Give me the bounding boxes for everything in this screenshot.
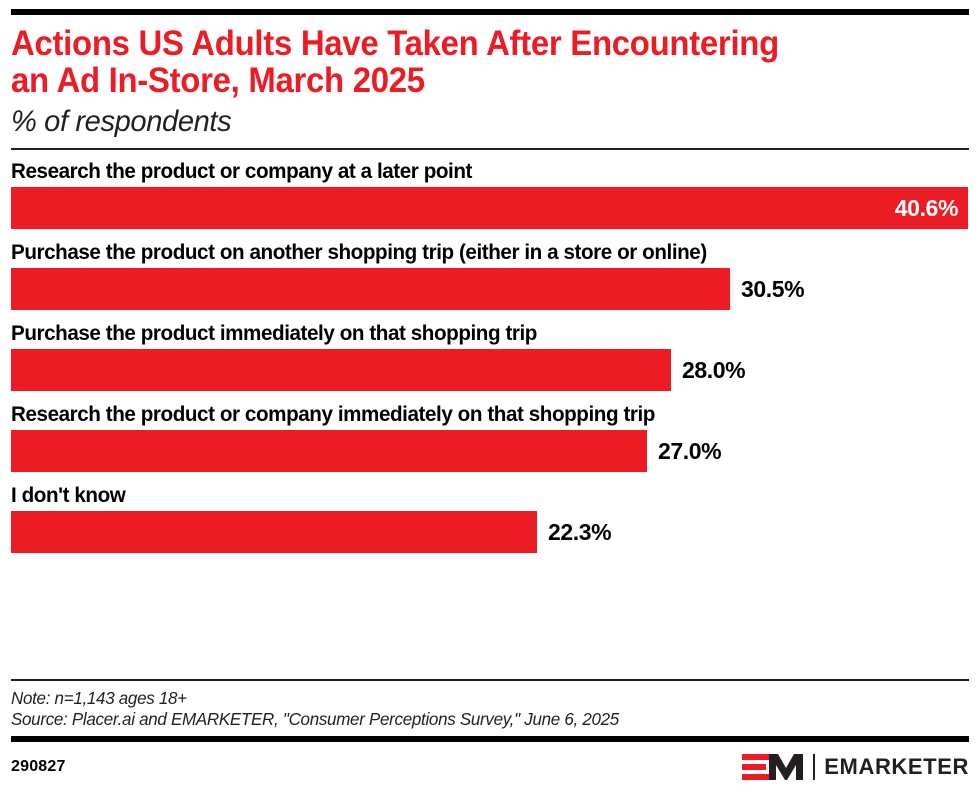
- bar-row: 28.0%: [11, 349, 969, 391]
- bar-fill: [11, 430, 647, 472]
- bar-group: Research the product or company immediat…: [11, 402, 969, 472]
- bar-value-label: 40.6%: [895, 195, 968, 222]
- bar-row: 30.5%: [11, 268, 969, 310]
- bar-fill: [11, 349, 671, 391]
- source-text: Source: Placer.ai and EMARKETER, "Consum…: [11, 709, 940, 730]
- bar-category-label: I don't know: [11, 483, 931, 507]
- bar-category-label: Research the product or company immediat…: [11, 402, 931, 426]
- footnotes: Note: n=1,143 ages 18+ Source: Placer.ai…: [11, 681, 969, 736]
- emarketer-logo-icon: [742, 752, 804, 782]
- bar-chart: Research the product or company at a lat…: [11, 150, 969, 553]
- chart-id: 290827: [11, 758, 66, 776]
- bar-fill: [11, 511, 537, 553]
- bar-fill: 40.6%: [11, 187, 968, 229]
- page-title: Actions US Adults Have Taken After Encou…: [11, 25, 912, 99]
- bar-row: 27.0%: [11, 430, 969, 472]
- bar-group: Purchase the product immediately on that…: [11, 321, 969, 391]
- bar-row: 22.3%: [11, 511, 969, 553]
- note-text: Note: n=1,143 ages 18+: [11, 688, 940, 709]
- bar-value-label: 30.5%: [730, 268, 804, 310]
- logo-divider: [813, 754, 815, 780]
- bar-group: Purchase the product on another shopping…: [11, 240, 969, 310]
- bar-category-label: Research the product or company at a lat…: [11, 159, 931, 183]
- bar-category-label: Purchase the product on another shopping…: [11, 240, 931, 264]
- bar-value-label: 27.0%: [647, 430, 721, 472]
- chart-header: Actions US Adults Have Taken After Encou…: [11, 15, 969, 139]
- bar-row: 40.6%: [11, 187, 969, 229]
- bar-group: I don't know 22.3%: [11, 483, 969, 553]
- bar-category-label: Purchase the product immediately on that…: [11, 321, 931, 345]
- logo-wordmark: EMARKETER: [824, 754, 969, 780]
- chart-page: Actions US Adults Have Taken After Encou…: [0, 9, 980, 791]
- bar-value-label: 28.0%: [671, 349, 745, 391]
- page-subtitle: % of respondents: [11, 105, 940, 139]
- bar-fill: [11, 268, 730, 310]
- chart-footer: Note: n=1,143 ages 18+ Source: Placer.ai…: [11, 679, 969, 791]
- emarketer-logo: EMARKETER: [742, 752, 969, 782]
- bar-value-label: 22.3%: [537, 511, 611, 553]
- footer-idbar: 290827 EMARKETER: [11, 742, 969, 791]
- bar-group: Research the product or company at a lat…: [11, 159, 969, 229]
